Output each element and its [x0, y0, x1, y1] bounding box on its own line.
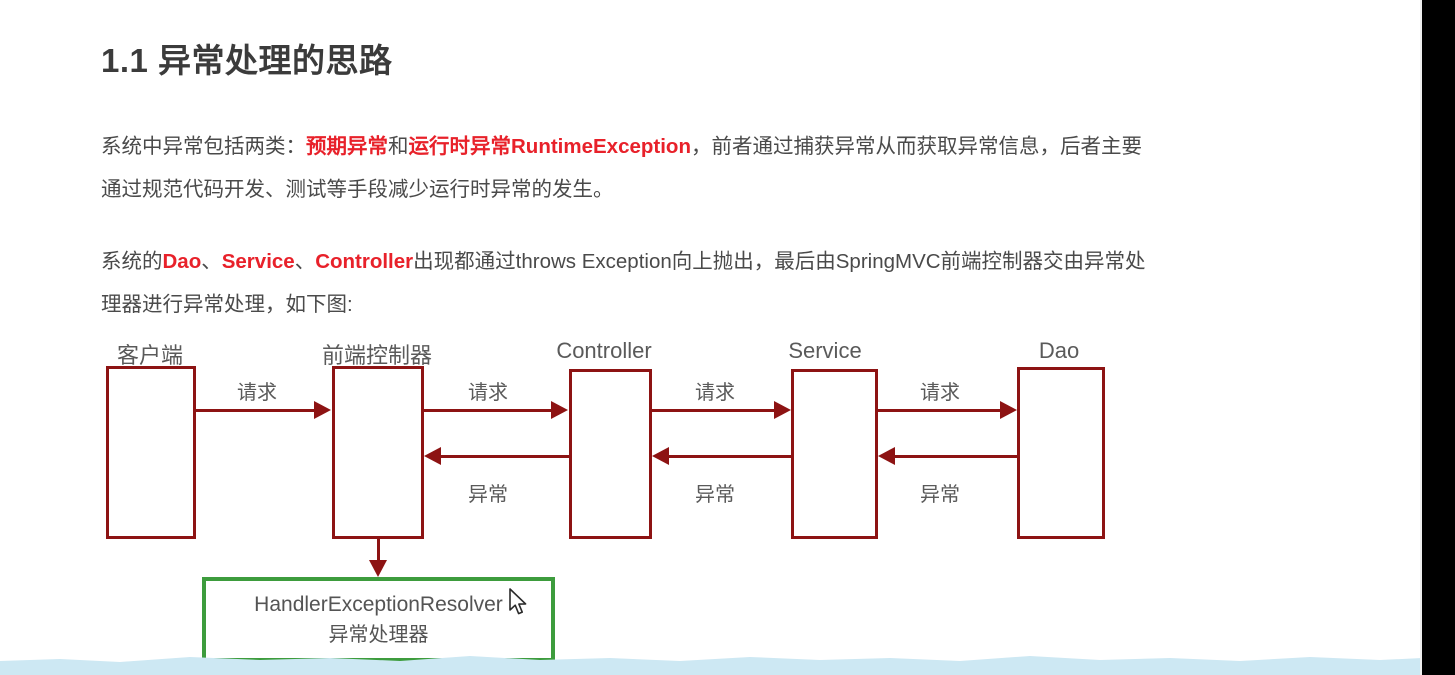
- edge-arrowhead-front-to-handler: [369, 560, 387, 577]
- edge-line-dao-to-service: [895, 455, 1017, 458]
- edge-label-controller-to-front: 异常: [468, 478, 508, 507]
- edge-label-controller-to-service: 请求: [695, 376, 735, 405]
- edge-line-controller-to-service: [652, 409, 775, 412]
- edge-arrowhead-controller-to-service: [774, 401, 791, 419]
- edge-label-service-to-dao: 请求: [920, 376, 960, 405]
- wave-shape-icon: [0, 647, 1422, 675]
- right-black-gutter: [1422, 0, 1455, 675]
- node-label-controller: Controller: [556, 338, 651, 364]
- node-label-service: Service: [788, 338, 861, 364]
- edge-label-client-to-front: 请求: [237, 376, 277, 405]
- edge-line-service-to-dao: [878, 409, 1001, 412]
- node-label-dao: Dao: [1039, 338, 1079, 364]
- node-box-client: [106, 366, 196, 539]
- edge-arrowhead-client-to-front: [314, 401, 331, 419]
- edge-line-front-to-controller: [424, 409, 552, 412]
- handler-class-name: HandlerExceptionResolver: [254, 590, 503, 620]
- node-box-controller: [569, 369, 652, 539]
- screenshot-root: 1.1 异常处理的思路 系统中异常包括两类：预期异常和运行时异常RuntimeE…: [0, 0, 1455, 675]
- edge-line-service-to-controller: [669, 455, 791, 458]
- edge-label-dao-to-service: 异常: [920, 478, 960, 507]
- handler-chinese-label: 异常处理器: [329, 620, 429, 650]
- bottom-wave-overlay: [0, 647, 1422, 675]
- edge-arrowhead-service-to-dao: [1000, 401, 1017, 419]
- edge-line-client-to-front: [196, 409, 315, 412]
- node-box-service: [791, 369, 878, 539]
- edge-label-service-to-controller: 异常: [695, 478, 735, 507]
- edge-arrowhead-front-to-controller: [551, 401, 568, 419]
- edge-arrowhead-dao-to-service: [878, 447, 895, 465]
- edge-arrowhead-controller-to-front: [424, 447, 441, 465]
- document-body: 1.1 异常处理的思路 系统中异常包括两类：预期异常和运行时异常RuntimeE…: [0, 0, 1420, 675]
- exception-flow-diagram: 客户端 前端控制器 Controller Service Dao 请求 请求 请…: [0, 0, 1420, 675]
- edge-arrowhead-service-to-controller: [652, 447, 669, 465]
- edge-label-front-to-controller: 请求: [468, 376, 508, 405]
- node-box-dao: [1017, 367, 1105, 539]
- node-box-front-controller: [332, 366, 424, 539]
- edge-line-controller-to-front: [441, 455, 569, 458]
